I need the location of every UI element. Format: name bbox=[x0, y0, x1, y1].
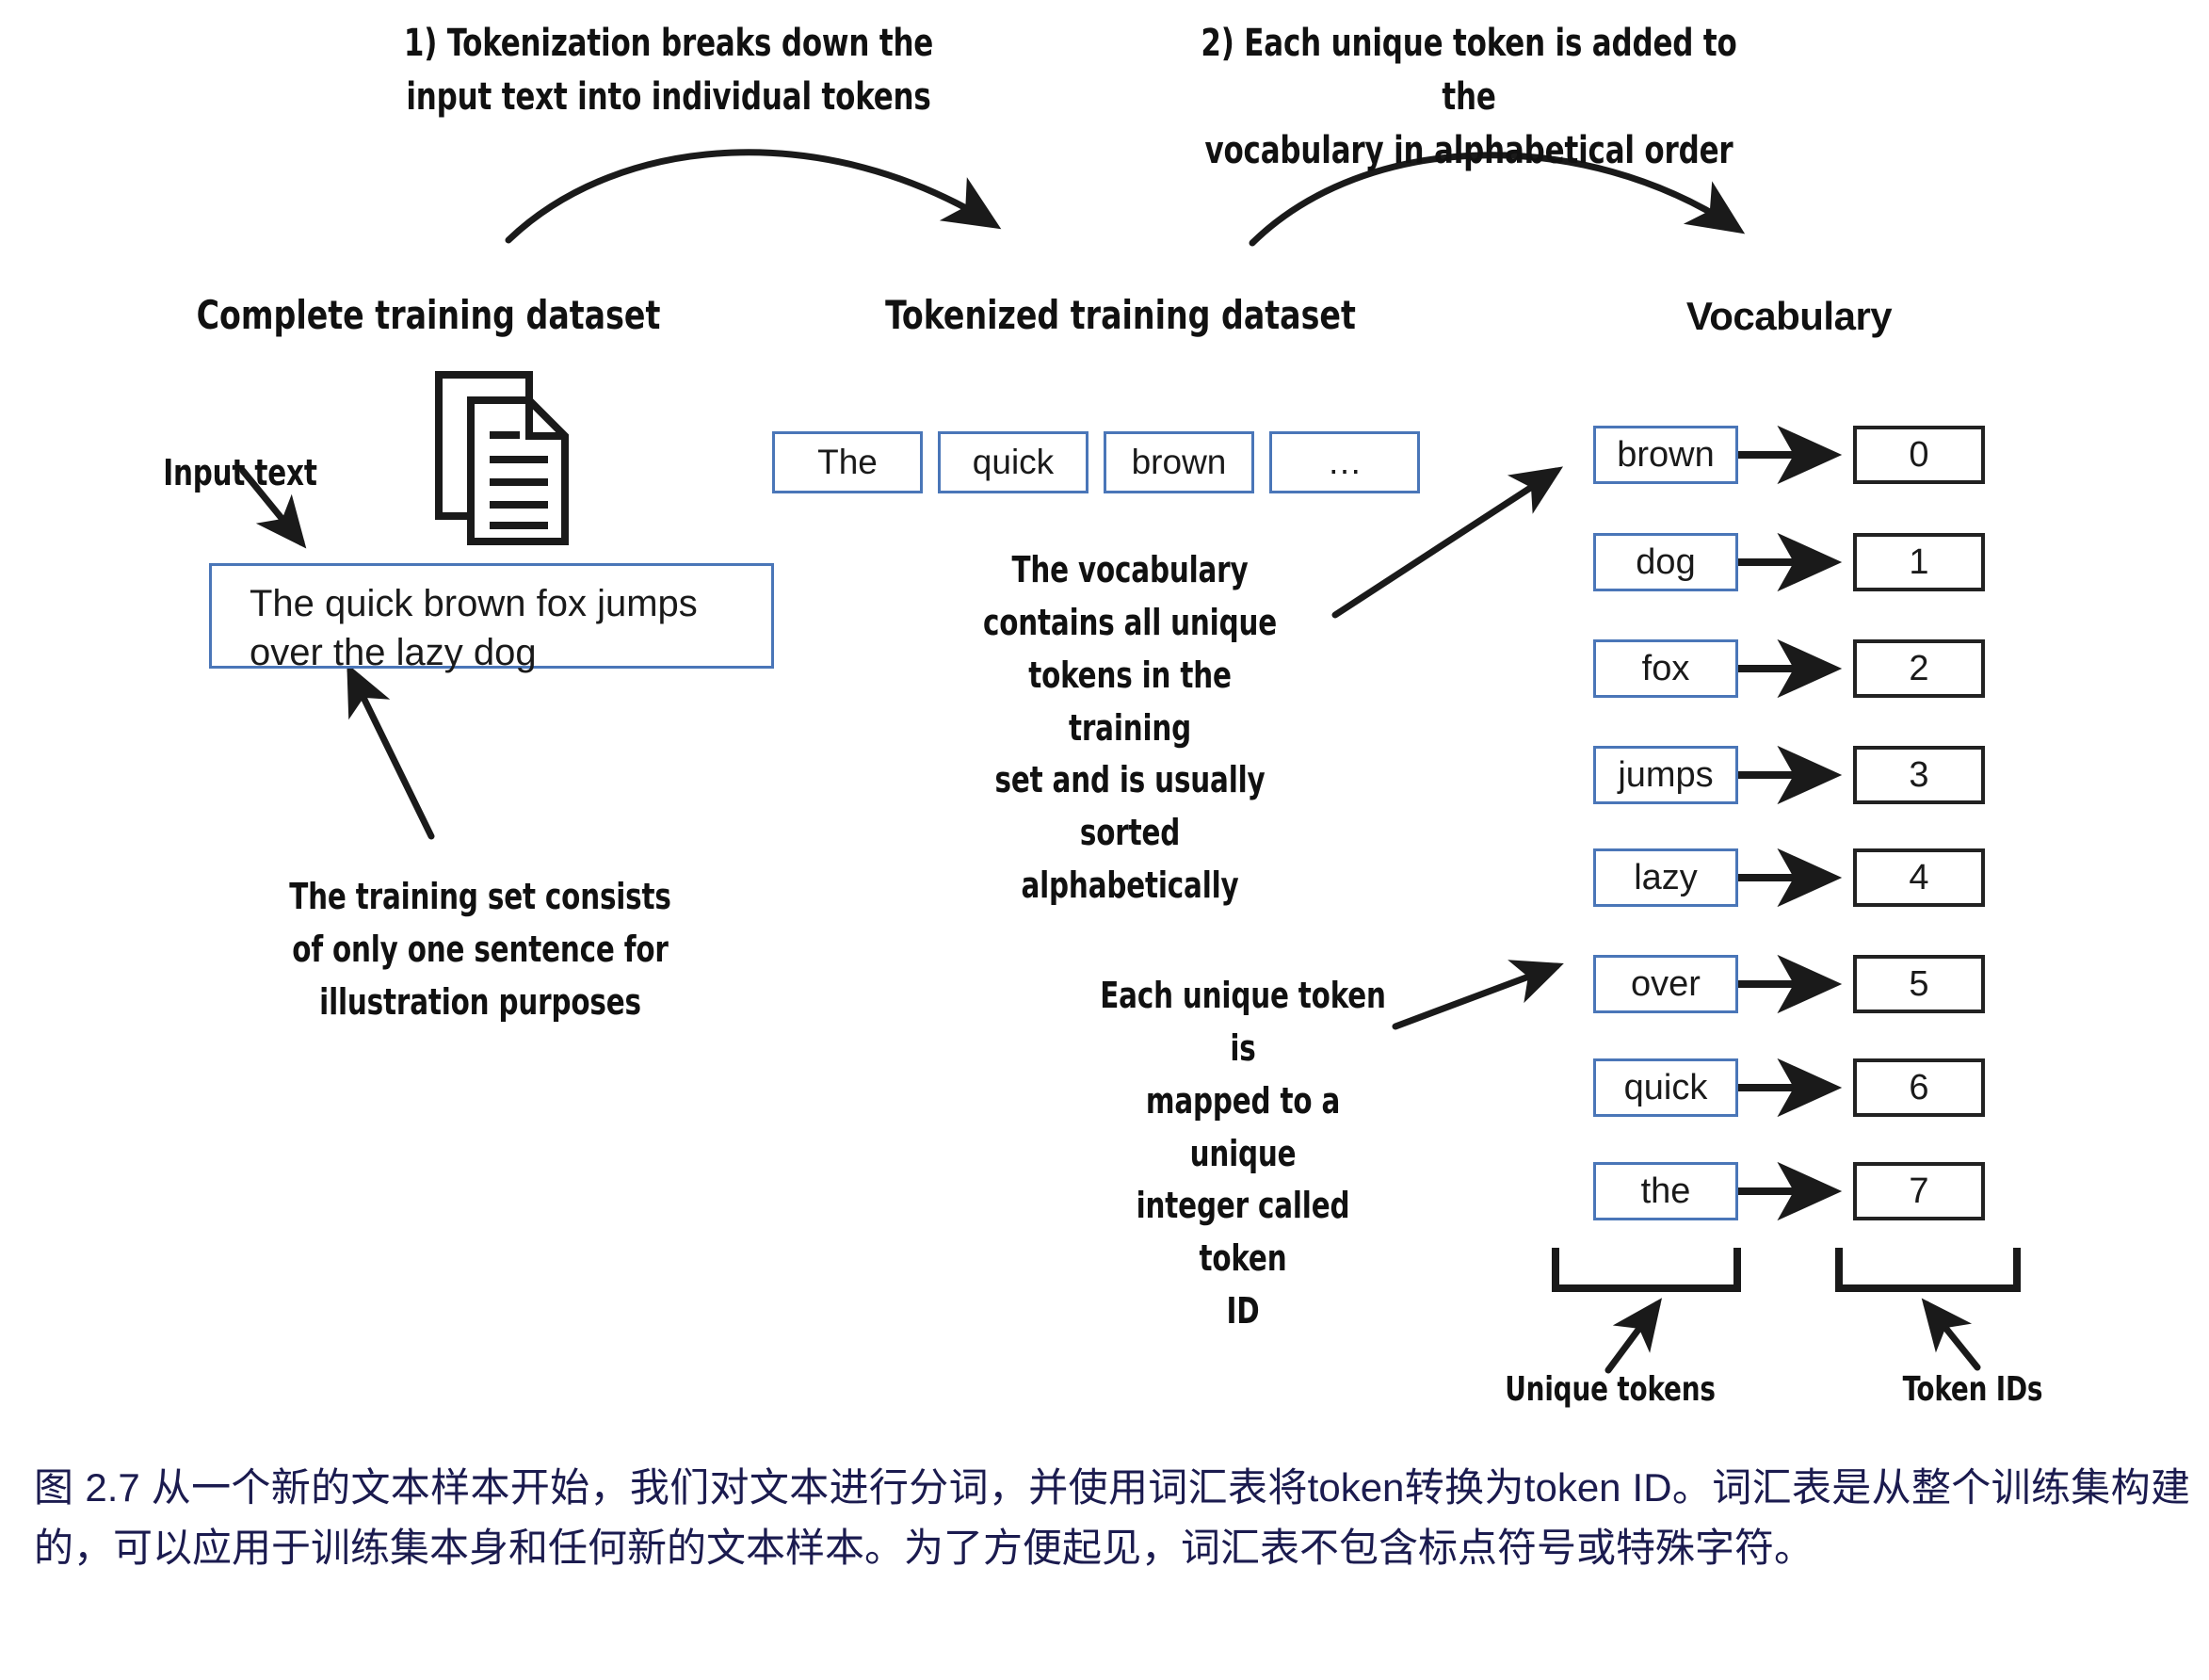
column-title-tokenized-dataset: Tokenized training dataset bbox=[863, 292, 1378, 338]
input-text-label: Input text bbox=[139, 452, 342, 493]
vocabulary-note: The vocabulary contains all unique token… bbox=[968, 544, 1292, 913]
token-id-1[interactable]: 1 bbox=[1853, 533, 1985, 591]
token-box-ellipsis[interactable]: … bbox=[1269, 431, 1420, 493]
training-note-pointer-arrow bbox=[350, 670, 431, 836]
token-id-note-pointer-arrow bbox=[1395, 966, 1556, 1026]
token-box-the[interactable]: The bbox=[772, 431, 923, 493]
vocab-token-dog[interactable]: dog bbox=[1593, 533, 1738, 591]
token-ids-bracket bbox=[1839, 1248, 2017, 1288]
step-1-heading: 1) Tokenization breaks down the input te… bbox=[385, 17, 952, 124]
input-text-line-2: over the lazy dog bbox=[250, 628, 771, 677]
unique-tokens-bracket bbox=[1556, 1248, 1737, 1288]
figure-caption: 图 2.7 从一个新的文本样本开始，我们对文本进行分词，并使用词汇表将token… bbox=[34, 1458, 2190, 1578]
token-box-brown[interactable]: brown bbox=[1104, 431, 1254, 493]
vocab-token-the[interactable]: the bbox=[1593, 1162, 1738, 1220]
column-title-vocabulary: Vocabulary bbox=[1601, 294, 1977, 339]
vocab-token-lazy[interactable]: lazy bbox=[1593, 848, 1738, 907]
vocab-token-over[interactable]: over bbox=[1593, 955, 1738, 1013]
unique-tokens-label-arrow bbox=[1608, 1304, 1657, 1370]
token-id-2[interactable]: 2 bbox=[1853, 639, 1985, 698]
vocab-token-brown[interactable]: brown bbox=[1593, 426, 1738, 484]
token-to-id-arrows bbox=[1737, 455, 1831, 1191]
figure-canvas: 1) Tokenization breaks down the input te… bbox=[0, 0, 2209, 1680]
token-id-7[interactable]: 7 bbox=[1853, 1162, 1985, 1220]
token-id-4[interactable]: 4 bbox=[1853, 848, 1985, 907]
column-title-complete-dataset: Complete training dataset bbox=[192, 292, 665, 338]
input-text-line-1: The quick brown fox jumps bbox=[250, 579, 771, 628]
step-1-curve-arrow bbox=[508, 153, 993, 240]
token-ids-label: Token IDs bbox=[1855, 1370, 2089, 1409]
token-id-note: Each unique token is mapped to a unique … bbox=[1093, 970, 1393, 1338]
token-id-5[interactable]: 5 bbox=[1853, 955, 1985, 1013]
token-id-0[interactable]: 0 bbox=[1853, 426, 1985, 484]
token-id-3[interactable]: 3 bbox=[1853, 746, 1985, 804]
input-text-box[interactable]: The quick brown fox jumps over the lazy … bbox=[209, 563, 774, 669]
training-set-note: The training set consists of only one se… bbox=[269, 871, 690, 1029]
token-ids-label-arrow bbox=[1927, 1304, 1977, 1367]
vocab-token-fox[interactable]: fox bbox=[1593, 639, 1738, 698]
token-id-6[interactable]: 6 bbox=[1853, 1058, 1985, 1117]
step-2-heading: 2) Each unique token is added to the voc… bbox=[1177, 17, 1760, 177]
documents-icon bbox=[439, 375, 565, 541]
vocab-token-quick[interactable]: quick bbox=[1593, 1058, 1738, 1117]
vocab-token-jumps[interactable]: jumps bbox=[1593, 746, 1738, 804]
unique-tokens-label: Unique tokens bbox=[1457, 1370, 1765, 1409]
token-box-quick[interactable]: quick bbox=[938, 431, 1088, 493]
